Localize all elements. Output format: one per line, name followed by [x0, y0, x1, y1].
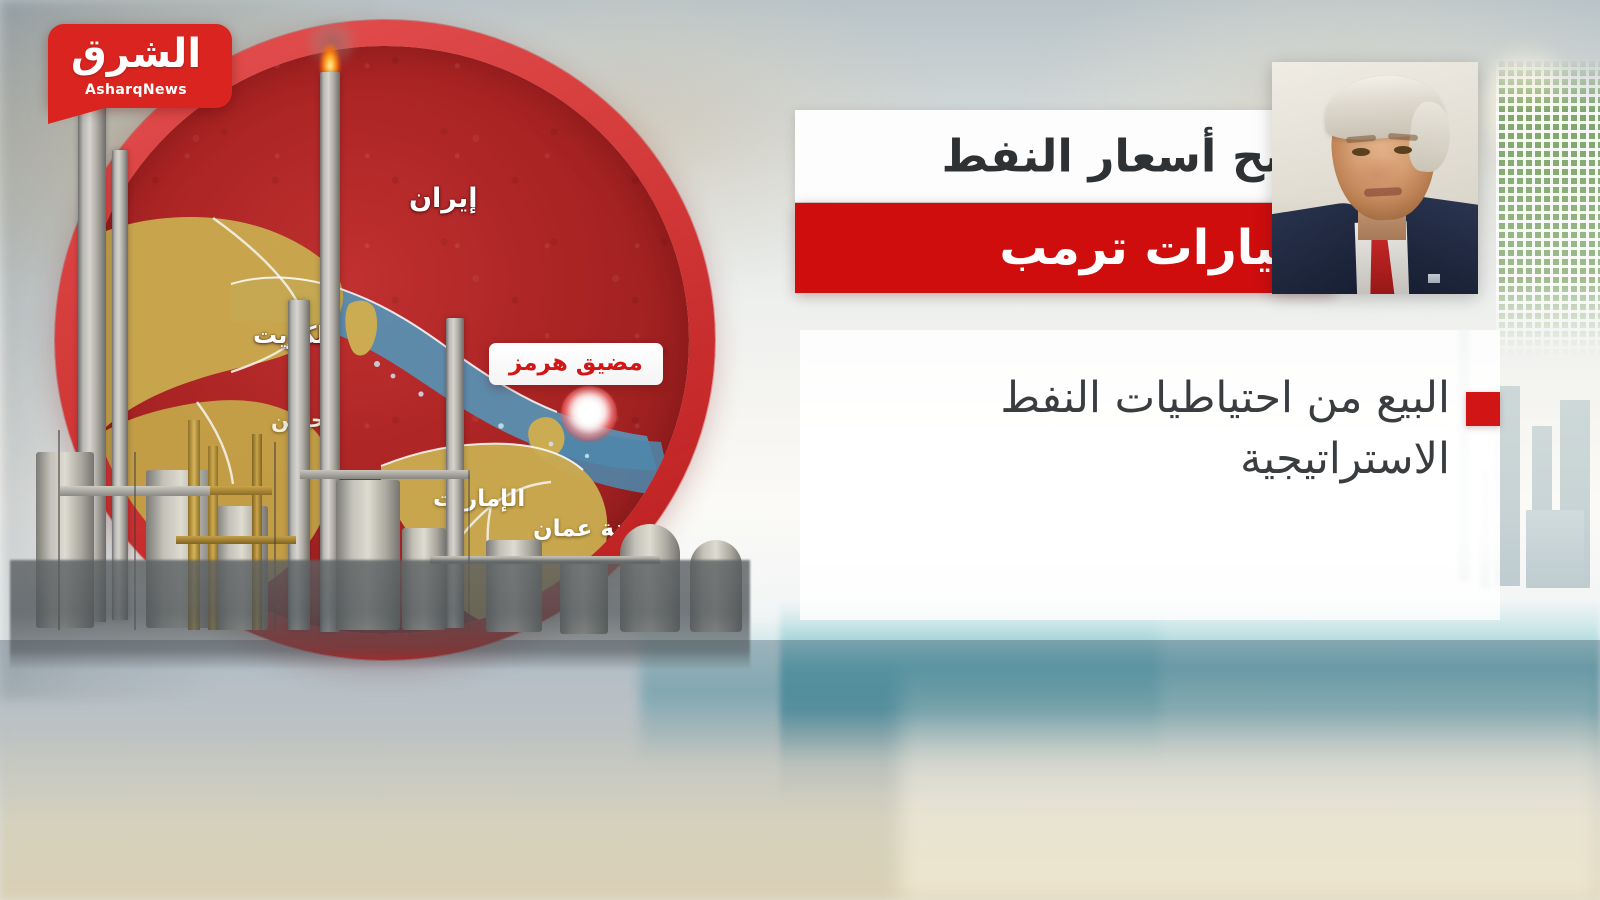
halftone-pattern — [1496, 58, 1600, 358]
asharq-news-logo[interactable]: الشرق AsharqNews — [48, 24, 232, 108]
trump-portrait — [1272, 62, 1478, 294]
floor-light-wash — [900, 660, 1600, 900]
headline-kicker-text: كبح أسعار النفط — [942, 130, 1309, 183]
bullet-marker-icon — [1466, 392, 1500, 426]
headline-kicker-bar: كبح أسعار النفط — [795, 110, 1335, 202]
logo-english-text: AsharqNews — [48, 82, 224, 98]
portrait-vignette — [1272, 62, 1478, 294]
map-red-ring — [55, 20, 715, 660]
region-map: إيران الكويت حرين الإمارات سلطنة عمان مض… — [55, 20, 715, 660]
headline-title-text: خيارات ترمب — [999, 220, 1309, 276]
headline-title-bar: خيارات ترمب — [795, 203, 1335, 293]
green-halftone-strip — [1496, 58, 1600, 358]
broadcast-graphic: إيران الكويت حرين الإمارات سلطنة عمان مض… — [0, 0, 1600, 900]
logo-arabic-text: الشرق — [48, 34, 224, 74]
bullet-text: البيع من احتياطيات النفط الاستراتيجية — [820, 368, 1450, 490]
